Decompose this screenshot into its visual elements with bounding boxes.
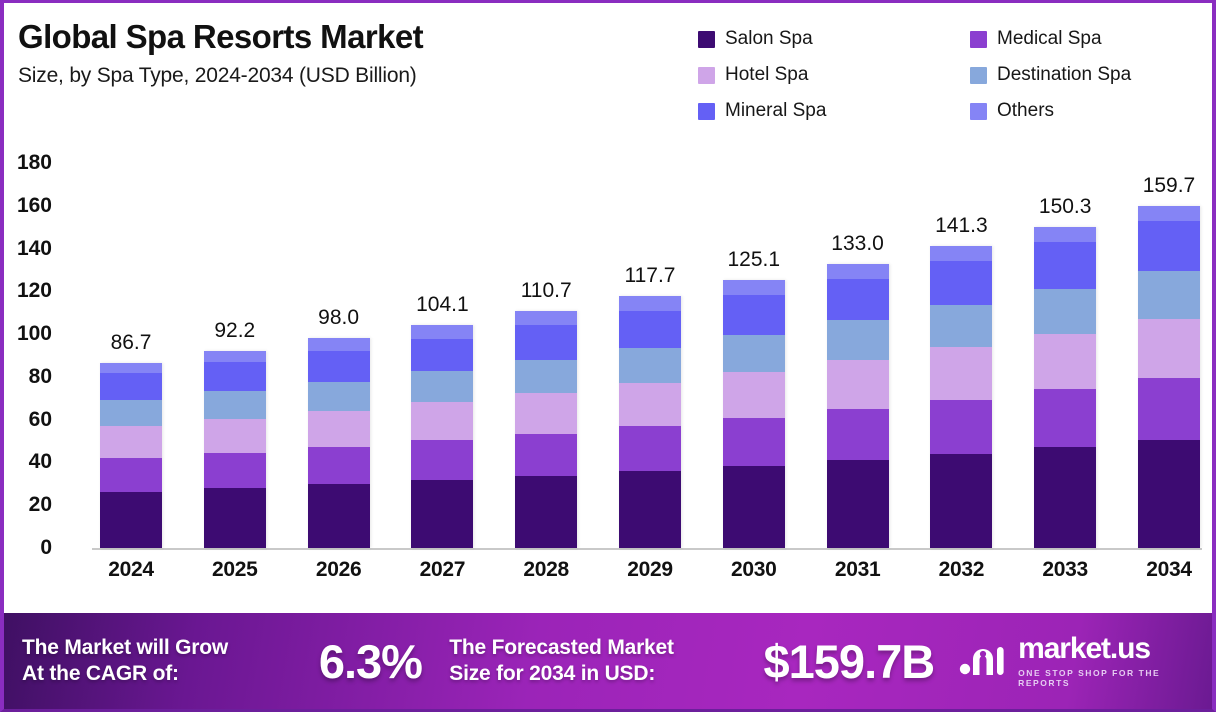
bar-column-2032[interactable]: 141.32032 — [930, 133, 992, 548]
bar-segment-salon-spa[interactable] — [1138, 440, 1200, 548]
infographic-frame: Global Spa Resorts Market Size, by Spa T… — [0, 0, 1216, 712]
title-block: Global Spa Resorts Market Size, by Spa T… — [18, 19, 423, 88]
bar-group: 86.7202492.2202598.02026104.12027110.720… — [100, 133, 1200, 548]
legend-item-medical-spa[interactable]: Medical Spa — [970, 28, 1198, 50]
cagr-value: 6.3% — [302, 634, 440, 689]
bar-segment-hotel-spa[interactable] — [515, 393, 577, 434]
y-axis-tick: 20 — [0, 493, 52, 517]
bar-segment-others[interactable] — [1138, 206, 1200, 221]
x-axis-tick: 2028 — [523, 558, 569, 582]
y-axis-tick: 0 — [0, 536, 52, 560]
legend-swatch-icon — [970, 31, 987, 48]
bar-segment-destination-spa[interactable] — [1034, 289, 1096, 334]
forecast-value: $159.7B — [743, 634, 956, 689]
bar-segment-medical-spa[interactable] — [411, 440, 473, 480]
y-axis-tick: 140 — [0, 237, 52, 261]
bar-segment-hotel-spa[interactable] — [723, 372, 785, 418]
bar-value-label: 133.0 — [831, 232, 884, 256]
bar-segment-salon-spa[interactable] — [930, 454, 992, 548]
bar-segment-hotel-spa[interactable] — [411, 402, 473, 440]
stacked-bar[interactable] — [619, 296, 681, 548]
y-axis-tick: 40 — [0, 450, 52, 474]
bar-segment-hotel-spa[interactable] — [1034, 334, 1096, 390]
bar-column-2031[interactable]: 133.02031 — [827, 133, 889, 548]
chart-subtitle: Size, by Spa Type, 2024-2034 (USD Billio… — [18, 64, 423, 88]
bar-segment-medical-spa[interactable] — [930, 400, 992, 455]
logo-mark-icon — [959, 642, 1009, 681]
bar-segment-destination-spa[interactable] — [827, 320, 889, 360]
legend-swatch-icon — [698, 31, 715, 48]
bar-segment-others[interactable] — [204, 351, 266, 363]
bar-segment-destination-spa[interactable] — [515, 360, 577, 393]
bar-segment-medical-spa[interactable] — [619, 426, 681, 471]
bar-segment-hotel-spa[interactable] — [619, 383, 681, 426]
bar-segment-mineral-spa[interactable] — [515, 325, 577, 360]
bar-segment-salon-spa[interactable] — [619, 471, 681, 548]
bar-segment-destination-spa[interactable] — [308, 382, 370, 411]
plot-area: 180160140120100806040200 86.7202492.2202… — [4, 133, 1212, 603]
stacked-bar[interactable] — [308, 338, 370, 548]
legend-swatch-icon — [698, 67, 715, 84]
market-us-logo[interactable]: market.us ONE STOP SHOP FOR THE REPORTS — [959, 634, 1212, 688]
bar-value-label: 159.7 — [1143, 174, 1196, 198]
stacked-bar[interactable] — [100, 363, 162, 548]
logo-tagline: ONE STOP SHOP FOR THE REPORTS — [1018, 668, 1212, 688]
banner-caption-line: Size for 2034 in USD: — [449, 661, 736, 687]
legend-item-destination-spa[interactable]: Destination Spa — [970, 64, 1198, 86]
legend-label: Others — [997, 100, 1054, 122]
stacked-bar[interactable] — [411, 325, 473, 548]
stacked-bar[interactable] — [1138, 206, 1200, 548]
bar-segment-hotel-spa[interactable] — [930, 347, 992, 399]
bar-segment-destination-spa[interactable] — [723, 335, 785, 372]
y-axis-tick: 120 — [0, 279, 52, 303]
bar-segment-salon-spa[interactable] — [411, 480, 473, 548]
x-axis-tick: 2026 — [316, 558, 362, 582]
bar-column-2029[interactable]: 117.72029 — [619, 133, 681, 548]
y-axis-tick: 60 — [0, 408, 52, 432]
bar-value-label: 110.7 — [521, 279, 572, 303]
x-axis-tick: 2031 — [835, 558, 881, 582]
x-axis-tick: 2029 — [627, 558, 673, 582]
bar-column-2025[interactable]: 92.22025 — [204, 133, 266, 548]
chart-legend: Salon SpaMedical SpaHotel SpaDestination… — [698, 21, 1198, 129]
stacked-bar[interactable] — [827, 264, 889, 548]
legend-item-others[interactable]: Others — [970, 100, 1198, 122]
bar-segment-medical-spa[interactable] — [827, 409, 889, 460]
bar-segment-others[interactable] — [308, 338, 370, 350]
legend-swatch-icon — [970, 103, 987, 120]
bar-value-label: 98.0 — [318, 306, 359, 330]
legend-item-salon-spa[interactable]: Salon Spa — [698, 28, 970, 50]
bar-segment-others[interactable] — [515, 311, 577, 325]
bar-segment-salon-spa[interactable] — [827, 460, 889, 548]
bar-segment-others[interactable] — [100, 363, 162, 373]
bar-value-label: 92.2 — [214, 319, 255, 343]
bar-segment-medical-spa[interactable] — [1138, 378, 1200, 440]
legend-label: Medical Spa — [997, 28, 1102, 50]
forecast-caption: The Forecasted MarketSize for 2034 in US… — [449, 635, 736, 686]
bar-segment-mineral-spa[interactable] — [1138, 221, 1200, 271]
bar-column-2030[interactable]: 125.12030 — [723, 133, 785, 548]
x-axis-tick: 2025 — [212, 558, 258, 582]
bar-segment-medical-spa[interactable] — [204, 453, 266, 489]
banner-caption-line: At the CAGR of: — [22, 661, 298, 687]
bar-segment-medical-spa[interactable] — [723, 418, 785, 466]
stacked-bar[interactable] — [1034, 227, 1096, 548]
y-axis-tick: 180 — [0, 151, 52, 175]
bar-segment-salon-spa[interactable] — [100, 492, 162, 548]
bar-segment-destination-spa[interactable] — [100, 400, 162, 426]
bar-segment-others[interactable] — [930, 246, 992, 261]
bar-segment-others[interactable] — [411, 325, 473, 338]
bar-segment-mineral-spa[interactable] — [1034, 242, 1096, 289]
bar-segment-salon-spa[interactable] — [308, 484, 370, 548]
x-axis-tick: 2032 — [939, 558, 985, 582]
y-axis-tick: 100 — [0, 322, 52, 346]
bar-segment-salon-spa[interactable] — [204, 488, 266, 548]
bar-column-2028[interactable]: 110.72028 — [515, 133, 577, 548]
bar-value-label: 125.1 — [728, 248, 781, 272]
bar-column-2026[interactable]: 98.02026 — [308, 133, 370, 548]
bar-segment-hotel-spa[interactable] — [827, 360, 889, 409]
bar-segment-destination-spa[interactable] — [411, 371, 473, 402]
bar-segment-hotel-spa[interactable] — [204, 419, 266, 453]
bar-segment-mineral-spa[interactable] — [827, 279, 889, 320]
header: Global Spa Resorts Market Size, by Spa T… — [4, 3, 1212, 133]
x-axis-tick: 2027 — [420, 558, 466, 582]
footer-banner: The Market will GrowAt the CAGR of: 6.3%… — [4, 613, 1212, 709]
banner-caption-line: The Forecasted Market — [449, 635, 736, 661]
bar-column-2027[interactable]: 104.12027 — [411, 133, 473, 548]
bar-segment-medical-spa[interactable] — [308, 447, 370, 485]
stacked-bar[interactable] — [204, 351, 266, 548]
cagr-caption: The Market will GrowAt the CAGR of: — [22, 635, 298, 686]
bar-column-2034[interactable]: 159.72034 — [1138, 133, 1200, 548]
bar-segment-others[interactable] — [827, 264, 889, 279]
legend-label: Salon Spa — [725, 28, 813, 50]
bar-segment-others[interactable] — [1034, 227, 1096, 242]
x-axis-tick: 2024 — [108, 558, 154, 582]
bar-segment-hotel-spa[interactable] — [100, 426, 162, 458]
bar-segment-salon-spa[interactable] — [515, 476, 577, 548]
x-axis-line — [92, 548, 1202, 550]
y-axis-tick: 80 — [0, 365, 52, 389]
bar-value-label: 150.3 — [1039, 195, 1092, 219]
bar-segment-mineral-spa[interactable] — [308, 351, 370, 382]
bar-segment-hotel-spa[interactable] — [308, 411, 370, 447]
bar-segment-mineral-spa[interactable] — [619, 311, 681, 348]
bar-segment-destination-spa[interactable] — [1138, 271, 1200, 319]
bar-column-2024[interactable]: 86.72024 — [100, 133, 162, 548]
bar-segment-mineral-spa[interactable] — [411, 339, 473, 372]
bar-segment-others[interactable] — [619, 296, 681, 311]
legend-label: Hotel Spa — [725, 64, 808, 86]
bar-segment-mineral-spa[interactable] — [930, 261, 992, 305]
bar-segment-medical-spa[interactable] — [100, 458, 162, 492]
page-title: Global Spa Resorts Market — [18, 19, 423, 55]
bar-value-label: 86.7 — [111, 331, 152, 355]
stacked-bar[interactable] — [930, 246, 992, 548]
legend-swatch-icon — [970, 67, 987, 84]
legend-swatch-icon — [698, 103, 715, 120]
bar-segment-destination-spa[interactable] — [930, 305, 992, 347]
bar-segment-salon-spa[interactable] — [1034, 447, 1096, 548]
x-axis-tick: 2034 — [1146, 558, 1192, 582]
logo-wordmark: market.us — [1018, 634, 1212, 664]
bar-segment-salon-spa[interactable] — [723, 466, 785, 548]
logo-text: market.us ONE STOP SHOP FOR THE REPORTS — [1018, 634, 1212, 688]
legend-item-mineral-spa[interactable]: Mineral Spa — [698, 100, 970, 122]
bar-column-2033[interactable]: 150.32033 — [1034, 133, 1096, 548]
stacked-bar[interactable] — [723, 280, 785, 548]
legend-label: Destination Spa — [997, 64, 1131, 86]
x-axis-tick: 2030 — [731, 558, 777, 582]
banner-caption-line: The Market will Grow — [22, 635, 298, 661]
x-axis-tick: 2033 — [1042, 558, 1088, 582]
bar-segment-medical-spa[interactable] — [515, 434, 577, 476]
bar-segment-mineral-spa[interactable] — [204, 362, 266, 391]
legend-item-hotel-spa[interactable]: Hotel Spa — [698, 64, 970, 86]
bar-segment-destination-spa[interactable] — [619, 348, 681, 383]
bar-value-label: 141.3 — [935, 214, 988, 238]
bar-value-label: 104.1 — [416, 293, 469, 317]
bar-segment-medical-spa[interactable] — [1034, 389, 1096, 447]
bar-segment-others[interactable] — [723, 280, 785, 295]
legend-label: Mineral Spa — [725, 100, 826, 122]
y-axis-tick: 160 — [0, 194, 52, 218]
bar-segment-mineral-spa[interactable] — [723, 295, 785, 334]
bar-segment-destination-spa[interactable] — [204, 391, 266, 419]
bar-value-label: 117.7 — [624, 264, 675, 288]
stacked-bar[interactable] — [515, 311, 577, 548]
bar-segment-hotel-spa[interactable] — [1138, 319, 1200, 378]
bar-segment-mineral-spa[interactable] — [100, 373, 162, 401]
